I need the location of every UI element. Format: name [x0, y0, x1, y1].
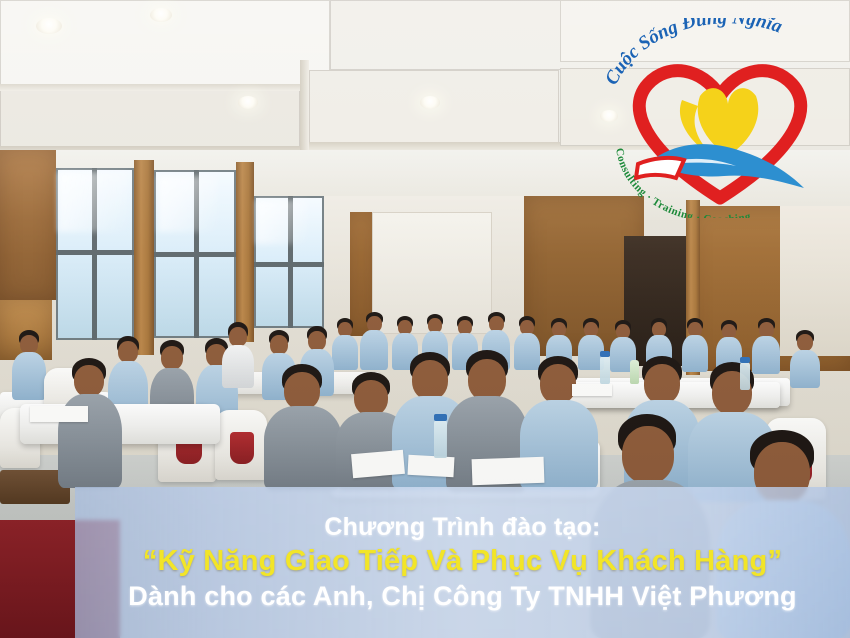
ceiling-beam	[0, 84, 320, 91]
water-bottle	[740, 362, 750, 390]
paper-document	[408, 455, 455, 477]
window-mullion	[254, 262, 324, 267]
window-mullion	[56, 250, 134, 255]
wood-column	[134, 160, 154, 355]
paper-document	[472, 457, 545, 485]
paper-document	[30, 406, 88, 422]
attendee	[360, 312, 388, 370]
ceiling-light	[150, 8, 172, 22]
bottle-cap	[740, 357, 750, 363]
bottle-cap	[600, 351, 610, 357]
paper-document	[351, 450, 405, 478]
window-glare	[158, 176, 218, 232]
svg-text:Consulting · Training · Coachi: Consulting · Training · Coaching	[613, 147, 752, 218]
chair-sash	[230, 432, 254, 464]
water-bottle	[630, 360, 639, 384]
caption-line-2: “Kỹ Năng Giao Tiếp Và Phục Vụ Khách Hàng…	[143, 545, 782, 578]
water-bottle	[600, 356, 610, 384]
company-logo: Cuộc Sống Đúng Nghĩa Consulting · Traini…	[604, 18, 836, 218]
wood-column	[236, 162, 254, 342]
photo-canvas: Cuộc Sống Đúng Nghĩa Consulting · Traini…	[0, 0, 850, 638]
bottle-cap	[434, 414, 447, 421]
attendee	[58, 358, 122, 488]
logo-tagline-text: Consulting · Training · Coaching	[613, 147, 752, 218]
attendee	[332, 318, 358, 370]
attendee	[222, 322, 254, 388]
wood-wall-panel	[0, 150, 56, 300]
attendee	[12, 330, 46, 400]
attendee	[790, 330, 820, 388]
caption-banner: Chương Trình đào tạo: “Kỹ Năng Giao Tiếp…	[75, 487, 850, 638]
caption-line-3: Dành cho các Anh, Chị Công Ty TNHH Việt …	[128, 581, 796, 612]
caption-line-1: Chương Trình đào tạo:	[324, 513, 600, 542]
attendee	[264, 364, 342, 490]
paper-document	[572, 384, 612, 396]
ceiling-light	[420, 96, 440, 109]
window-mullion	[154, 252, 236, 257]
window-glare	[58, 172, 128, 232]
water-bottle	[434, 420, 447, 458]
ceiling-beam	[300, 60, 309, 160]
ceiling-light	[238, 96, 258, 109]
ceiling-light	[36, 18, 62, 34]
logo-tagline-arc: Consulting · Training · Coaching	[604, 128, 836, 218]
window-glare	[256, 200, 308, 244]
ceiling-panel	[0, 86, 300, 148]
